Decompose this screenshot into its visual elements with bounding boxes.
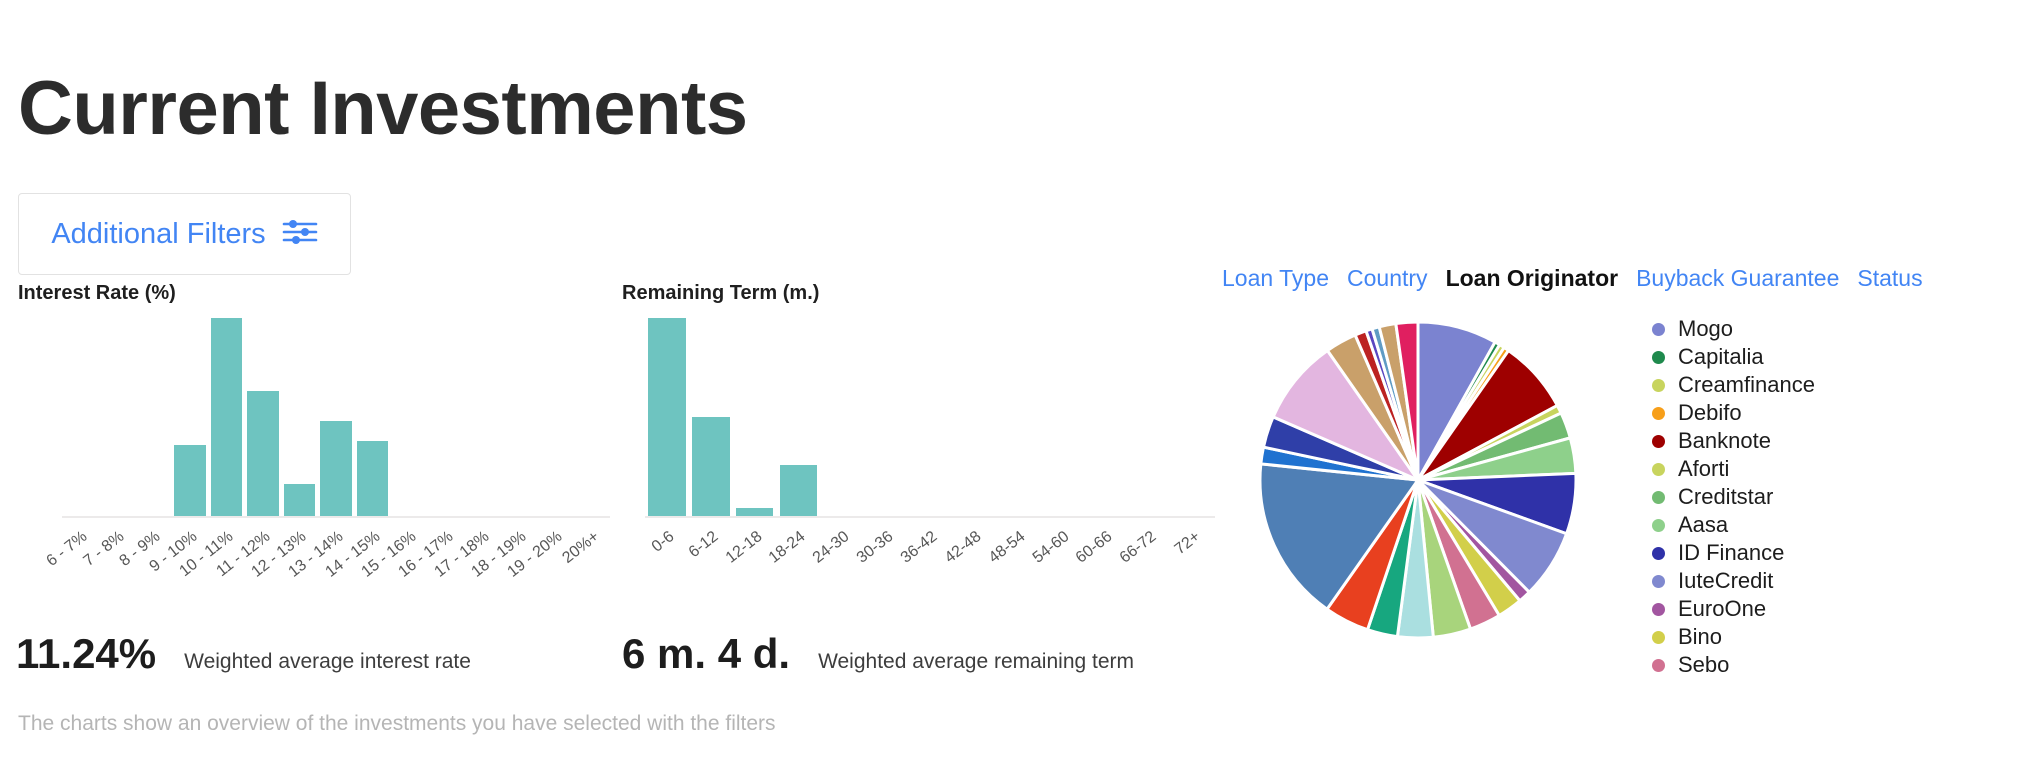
legend-color-dot	[1652, 379, 1665, 392]
legend-label: Creamfinance	[1678, 372, 1815, 398]
x-tick-label: 6-12	[686, 528, 722, 562]
pie-svg: MogoCapitaliaCreamfinanceDebifoBanknoteA…	[1258, 320, 1578, 640]
x-axis-remaining-term: 0-66-1212-1818-2424-3030-3636-4242-4848-…	[645, 522, 1215, 642]
x-tick: 54-60	[1040, 522, 1084, 642]
x-tick: 18 - 19%	[500, 522, 537, 642]
x-tick: 48-54	[996, 522, 1040, 642]
sliders-icon	[282, 217, 318, 252]
remaining-term-chart-title: Remaining Term (m.)	[622, 282, 819, 305]
bar[interactable]	[284, 484, 315, 516]
x-tick: 42-48	[952, 522, 996, 642]
x-tick: 15 - 16%	[391, 522, 428, 642]
bar-slot	[135, 318, 172, 516]
legend-color-dot	[1652, 351, 1665, 364]
bar-slot	[1171, 318, 1215, 516]
x-tick: 6 - 7%	[62, 522, 99, 642]
bar-slot	[1127, 318, 1171, 516]
x-tick: 24-30	[820, 522, 864, 642]
x-tick: 20%+	[573, 522, 610, 642]
bar-slot	[464, 318, 501, 516]
legend-color-dot	[1652, 519, 1665, 532]
legend-item[interactable]: Creamfinance	[1652, 371, 1992, 399]
bar-slot	[573, 318, 610, 516]
bar[interactable]	[320, 421, 351, 516]
bar-slot	[281, 318, 318, 516]
x-tick: 12-18	[733, 522, 777, 642]
x-tick: 17 - 18%	[464, 522, 501, 642]
x-tick-label: 72+	[1172, 528, 1204, 559]
bar-slot	[820, 318, 864, 516]
bar[interactable]	[357, 441, 388, 516]
x-tick: 13 - 14%	[318, 522, 355, 642]
page-title: Current Investments	[18, 69, 748, 149]
bar-slot	[172, 318, 209, 516]
bar[interactable]	[692, 417, 730, 516]
legend-label: ID Finance	[1678, 540, 1784, 566]
bar-slot	[908, 318, 952, 516]
legend-item[interactable]: EuroOne	[1652, 595, 1992, 623]
bar-slot	[996, 318, 1040, 516]
legend-label: Bino	[1678, 624, 1722, 650]
x-tick: 19 - 20%	[537, 522, 574, 642]
legend-color-dot	[1652, 547, 1665, 560]
legend-item[interactable]: Banknote	[1652, 427, 1992, 455]
x-tick: 36-42	[908, 522, 952, 642]
tab-buyback-guarantee[interactable]: Buyback Guarantee	[1636, 265, 1839, 292]
tab-loan-type[interactable]: Loan Type	[1222, 265, 1329, 292]
interest-rate-bar-chart: 6 - 7%7 - 8%8 - 9%9 - 10%10 - 11%11 - 12…	[62, 318, 610, 518]
bar-slot	[391, 318, 428, 516]
bar-slot	[1083, 318, 1127, 516]
legend-color-dot	[1652, 463, 1665, 476]
bar-slot	[208, 318, 245, 516]
legend-color-dot	[1652, 603, 1665, 616]
interest-rate-chart-title: Interest Rate (%)	[18, 282, 176, 305]
loan-originator-pie-chart: MogoCapitaliaCreamfinanceDebifoBanknoteA…	[1258, 320, 1578, 640]
tab-country[interactable]: Country	[1347, 265, 1428, 292]
bar-slot	[318, 318, 355, 516]
x-tick: 60-66	[1083, 522, 1127, 642]
legend-color-dot	[1652, 575, 1665, 588]
x-tick-label: 6 - 7%	[44, 528, 92, 571]
tab-status[interactable]: Status	[1857, 265, 1922, 292]
legend-item[interactable]: Sebo	[1652, 651, 1992, 675]
bar-slot	[777, 318, 821, 516]
bar[interactable]	[174, 445, 205, 516]
legend-color-dot	[1652, 659, 1665, 672]
metric-value: 6 m. 4 d.	[622, 630, 790, 678]
x-tick: 72+	[1171, 522, 1215, 642]
x-axis-interest-rate: 6 - 7%7 - 8%8 - 9%9 - 10%10 - 11%11 - 12…	[62, 522, 610, 642]
bar-slot	[62, 318, 99, 516]
legend-item[interactable]: Bino	[1652, 623, 1992, 651]
legend-item[interactable]: Aforti	[1652, 455, 1992, 483]
legend-label: Aforti	[1678, 456, 1729, 482]
legend-item[interactable]: Mogo	[1652, 315, 1992, 343]
x-tick: 18-24	[777, 522, 821, 642]
legend-label: Capitalia	[1678, 344, 1764, 370]
x-tick-label: 0-6	[649, 528, 678, 556]
bar-slot	[99, 318, 136, 516]
x-tick: 0-6	[645, 522, 689, 642]
bar[interactable]	[780, 465, 818, 516]
bar[interactable]	[648, 318, 686, 516]
bar[interactable]	[247, 391, 278, 516]
x-tick: 30-36	[864, 522, 908, 642]
legend-item[interactable]: Aasa	[1652, 511, 1992, 539]
bar-slot	[689, 318, 733, 516]
bar-slot	[500, 318, 537, 516]
metric-value: 11.24%	[16, 630, 156, 678]
legend-label: Sebo	[1678, 652, 1729, 675]
legend-item[interactable]: Capitalia	[1652, 343, 1992, 371]
legend-label: Aasa	[1678, 512, 1728, 538]
legend-label: Debifo	[1678, 400, 1742, 426]
legend-item[interactable]: IuteCredit	[1652, 567, 1992, 595]
tab-loan-originator[interactable]: Loan Originator	[1446, 265, 1619, 292]
legend-label: Banknote	[1678, 428, 1771, 454]
legend-color-dot	[1652, 631, 1665, 644]
legend-item[interactable]: Debifo	[1652, 399, 1992, 427]
legend-label: IuteCredit	[1678, 568, 1773, 594]
legend-color-dot	[1652, 407, 1665, 420]
breakdown-tabs: Loan TypeCountryLoan OriginatorBuyback G…	[1222, 265, 1923, 292]
legend-color-dot	[1652, 491, 1665, 504]
legend-label: Mogo	[1678, 316, 1733, 342]
bar-slot	[245, 318, 282, 516]
legend-label: EuroOne	[1678, 596, 1766, 622]
legend-color-dot	[1652, 435, 1665, 448]
x-tick: 16 - 17%	[427, 522, 464, 642]
bar[interactable]	[211, 318, 242, 516]
bar-slot	[952, 318, 996, 516]
charts-footnote: The charts show an overview of the inves…	[18, 712, 776, 736]
legend-item[interactable]: Creditstar	[1652, 483, 1992, 511]
legend-item[interactable]: ID Finance	[1652, 539, 1992, 567]
legend-label: Creditstar	[1678, 484, 1773, 510]
legend-color-dot	[1652, 323, 1665, 336]
x-tick: 6-12	[689, 522, 733, 642]
x-tick: 14 - 15%	[354, 522, 391, 642]
weighted-average-interest-rate-metric: 11.24% Weighted average interest rate	[16, 630, 471, 678]
additional-filters-label: Additional Filters	[51, 218, 265, 251]
x-tick: 9 - 10%	[172, 522, 209, 642]
metric-caption: Weighted average remaining term	[818, 650, 1134, 674]
weighted-average-remaining-term-metric: 6 m. 4 d. Weighted average remaining ter…	[622, 630, 1134, 678]
bar-slot	[733, 318, 777, 516]
x-tick: 8 - 9%	[135, 522, 172, 642]
x-tick: 66-72	[1127, 522, 1171, 642]
x-tick: 10 - 11%	[208, 522, 245, 642]
bar-slot	[645, 318, 689, 516]
bar-slot	[427, 318, 464, 516]
pie-legend: MogoCapitaliaCreamfinanceDebifoBanknoteA…	[1652, 315, 1992, 675]
additional-filters-button[interactable]: Additional Filters	[18, 193, 351, 275]
x-tick: 7 - 8%	[99, 522, 136, 642]
bar-series-remaining-term	[645, 318, 1215, 518]
remaining-term-bar-chart: 0-66-1212-1818-2424-3030-3636-4242-4848-…	[645, 318, 1215, 518]
bar-slot	[354, 318, 391, 516]
bar-slot	[864, 318, 908, 516]
bar[interactable]	[736, 508, 774, 516]
metric-caption: Weighted average interest rate	[184, 650, 471, 674]
x-tick: 12 - 13%	[281, 522, 318, 642]
bar-slot	[537, 318, 574, 516]
bar-slot	[1040, 318, 1084, 516]
bar-series-interest-rate	[62, 318, 610, 518]
x-tick: 11 - 12%	[245, 522, 282, 642]
